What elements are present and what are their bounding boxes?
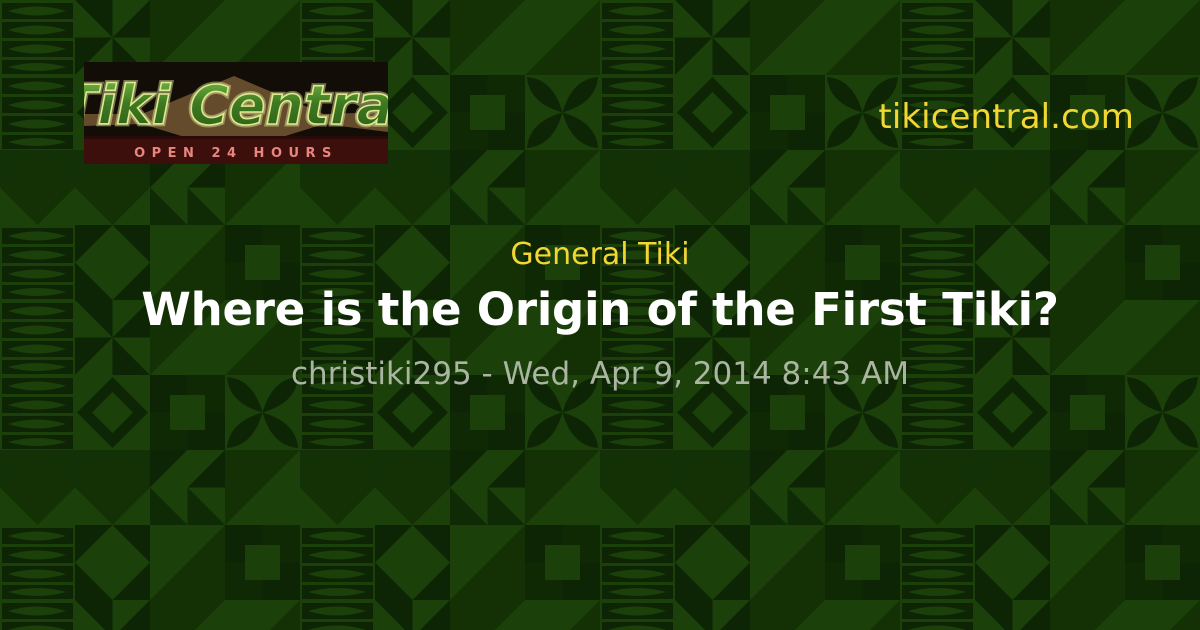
logo-wordmark: Tiki Central <box>84 74 388 137</box>
tiki-central-logo[interactable]: Tiki Central Tiki Central OPEN 24 HOURS <box>84 62 388 164</box>
post-title[interactable]: Where is the Origin of the First Tiki? <box>90 282 1110 338</box>
post-summary: General Tiki Where is the Origin of the … <box>0 236 1200 394</box>
post-byline: christiki295 - Wed, Apr 9, 2014 8:43 AM <box>90 354 1110 394</box>
social-card: Tiki Central Tiki Central OPEN 24 HOURS … <box>0 0 1200 630</box>
logo-tagline: OPEN 24 HOURS <box>134 146 338 161</box>
site-url-label[interactable]: tikicentral.com <box>878 96 1134 138</box>
post-category-label[interactable]: General Tiki <box>90 236 1110 274</box>
